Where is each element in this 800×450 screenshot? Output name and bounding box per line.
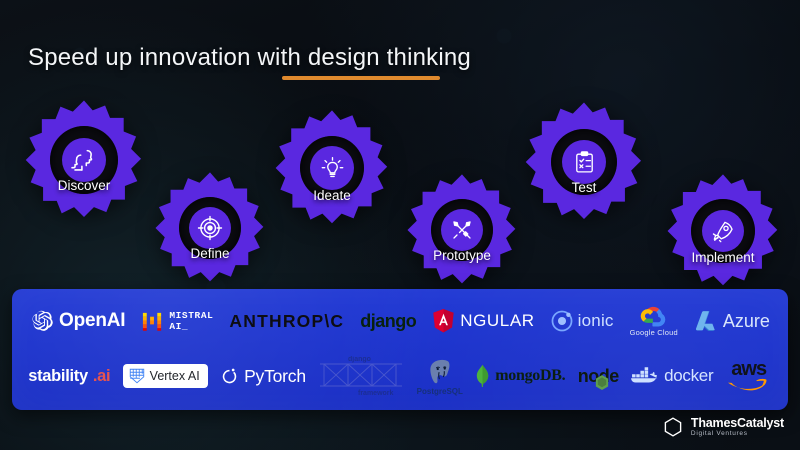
drf-grid-icon: django framework (318, 354, 404, 398)
logo-mistral-ai[interactable]: MISTRAL AI_ (141, 310, 213, 333)
logo-stability-ai[interactable]: stability .ai (28, 367, 110, 386)
process-step-define[interactable]: Define (152, 170, 268, 286)
nodejs-hexagon-icon (595, 375, 609, 391)
gear-icon-core (62, 138, 106, 182)
svg-text:django: django (348, 356, 371, 363)
logo-vertex-ai[interactable]: Vertex AI (123, 364, 208, 388)
clipboard-checklist-icon (572, 150, 597, 175)
brand-text-group: ThamesCatalyst Digital Ventures (691, 417, 784, 438)
postgresql-elephant-icon (425, 357, 455, 387)
logo-aws[interactable]: aws (726, 361, 772, 391)
technology-logo-panel: OpenAI MISTRAL (12, 289, 788, 410)
logo-docker[interactable]: docker (631, 365, 713, 387)
logo-angular[interactable]: NGULAR (432, 309, 534, 333)
logo-label: stability (28, 367, 88, 386)
gear-icon-core (189, 207, 231, 249)
logo-label: PostgreSQL (417, 387, 463, 396)
gear-icon-core (310, 146, 354, 190)
brand-name: ThamesCatalyst (691, 417, 784, 430)
logo-openai[interactable]: OpenAI (30, 309, 125, 333)
brand-logo[interactable]: ThamesCatalyst Digital Ventures (662, 416, 784, 438)
lightbulb-icon (320, 156, 345, 181)
logo-label: ionic (578, 311, 614, 331)
logo-row-top: OpenAI MISTRAL (12, 295, 788, 347)
slide-title-group: Speed up innovation with design thinking (28, 44, 471, 72)
logo-postgresql[interactable]: PostgreSQL (417, 357, 463, 396)
process-step-test[interactable]: Test (522, 100, 646, 224)
logo-label: PyTorch (244, 366, 306, 387)
logo-label: NGULAR (460, 311, 534, 331)
logo-label: OpenAI (59, 310, 125, 332)
process-step-label: Test (522, 180, 646, 195)
process-step-label: Discover (22, 178, 146, 193)
rocket-icon (711, 219, 736, 244)
logo-nodejs[interactable]: node (578, 366, 619, 387)
logo-google-cloud[interactable]: Google Cloud (630, 305, 678, 337)
ionic-circle-icon (551, 310, 573, 332)
logo-row-bottom: stability .ai Vertex AI PyTorch (12, 349, 788, 403)
logo-label: Azure (723, 311, 770, 332)
docker-whale-icon (631, 365, 659, 387)
logo-label: Vertex AI (150, 369, 200, 383)
logo-label: aws (731, 361, 766, 378)
google-cloud-icon (639, 305, 669, 327)
logo-azure[interactable]: Azure (694, 310, 770, 332)
process-step-label: Implement (664, 250, 782, 265)
svg-text:framework: framework (358, 390, 394, 397)
user-profiles-icon (71, 147, 98, 174)
logo-django-rest-framework[interactable]: django framework (318, 354, 404, 398)
crossed-tools-icon (450, 218, 474, 242)
azure-triangle-icon (694, 310, 718, 332)
gear-icon-core (562, 140, 606, 184)
pytorch-flame-icon (220, 365, 239, 387)
logo-mongodb[interactable]: mongoDB. (475, 364, 565, 388)
logo-label-line1: MISTRAL (169, 310, 213, 321)
mongodb-leaf-icon (475, 364, 490, 388)
hexagon-icon (662, 416, 684, 438)
logo-label-group: MISTRAL AI_ (169, 310, 213, 332)
slide-canvas: Speed up innovation with design thinking… (0, 0, 800, 450)
process-step-label: Ideate (272, 188, 392, 203)
logo-label-line2: AI_ (169, 321, 213, 332)
logo-label: mongoDB. (495, 367, 565, 385)
logo-label: ANTHROP\C (229, 311, 344, 332)
process-step-label: Prototype (404, 248, 520, 263)
title-underline (282, 76, 440, 80)
openai-flower-icon (30, 309, 54, 333)
logo-label: docker (664, 366, 713, 386)
angular-shield-icon (432, 309, 455, 333)
vertex-ai-icon (128, 367, 146, 385)
process-step-label: Define (152, 246, 268, 261)
logo-label: Google Cloud (630, 328, 678, 337)
target-crosshair-icon (197, 215, 223, 241)
process-step-prototype[interactable]: Prototype (404, 172, 520, 288)
brand-tagline: Digital Ventures (691, 431, 784, 438)
gear-icon-core (702, 210, 744, 252)
gear-icon-core (441, 209, 483, 251)
aws-smile-icon (726, 378, 772, 391)
logo-anthropic[interactable]: ANTHROP\C (229, 311, 344, 332)
logo-label: django (360, 311, 416, 332)
logo-label-suffix: .ai (93, 367, 110, 386)
process-step-ideate[interactable]: Ideate (272, 108, 392, 228)
process-step-discover[interactable]: Discover (22, 98, 146, 222)
logo-pytorch[interactable]: PyTorch (220, 365, 306, 387)
process-step-implement[interactable]: Implement (664, 172, 782, 290)
logo-ionic[interactable]: ionic (551, 310, 614, 332)
page-title: Speed up innovation with design thinking (28, 44, 471, 72)
logo-django[interactable]: django (360, 311, 416, 332)
mistral-m-icon (141, 310, 164, 333)
